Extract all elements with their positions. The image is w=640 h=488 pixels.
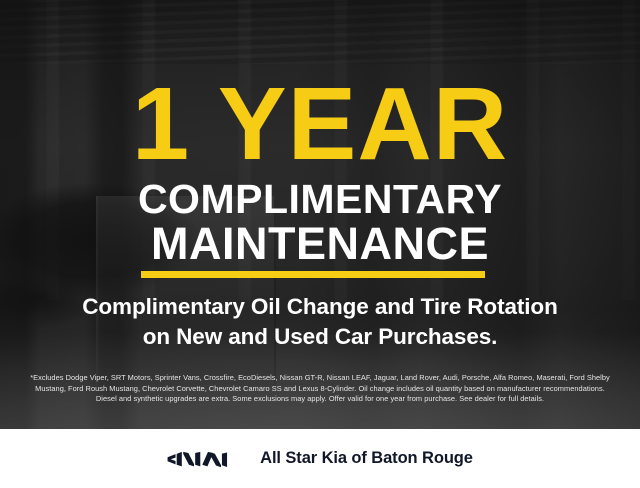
hero-content: 1 YEAR COMPLIMENTARY MAINTENANCE Complim… xyxy=(0,0,640,429)
headline-year: 1 YEAR xyxy=(0,72,640,175)
headline-maintenance: MAINTENANCE xyxy=(0,221,640,266)
disclaimer-line-1: *Excludes Dodge Viper, SRT Motors, Sprin… xyxy=(14,373,626,384)
disclaimer-text: *Excludes Dodge Viper, SRT Motors, Sprin… xyxy=(14,373,626,405)
subheadline: Complimentary Oil Change and Tire Rotati… xyxy=(26,292,614,352)
disclaimer-line-2: Mustang, Ford Roush Mustang, Chevrolet C… xyxy=(14,384,626,395)
promo-banner: 1 YEAR COMPLIMENTARY MAINTENANCE Complim… xyxy=(0,0,640,488)
footer-bar: All Star Kia of Baton Rouge xyxy=(0,429,640,488)
disclaimer-line-3: Diesel and synthetic upgrades are extra.… xyxy=(14,394,626,405)
subheadline-line-2: on New and Used Car Purchases. xyxy=(26,322,614,352)
subheadline-line-1: Complimentary Oil Change and Tire Rotati… xyxy=(26,292,614,322)
hero-section: 1 YEAR COMPLIMENTARY MAINTENANCE Complim… xyxy=(0,0,640,429)
kia-logo-icon xyxy=(167,449,241,469)
headline-complimentary: COMPLIMENTARY xyxy=(0,179,640,220)
dealer-name: All Star Kia of Baton Rouge xyxy=(260,449,473,468)
yellow-divider-rule xyxy=(141,271,485,278)
